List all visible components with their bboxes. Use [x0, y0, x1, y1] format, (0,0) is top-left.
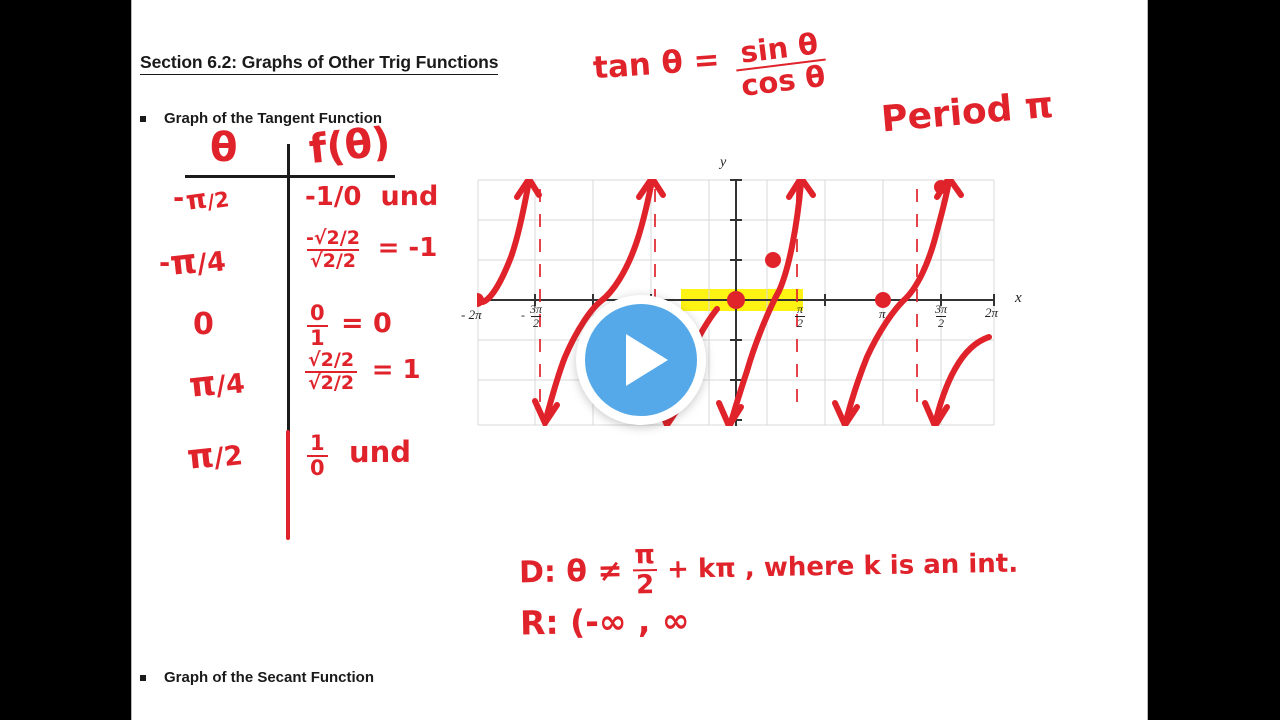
value-result: = -1	[378, 233, 438, 263]
annotation-tan-lhs: tan θ =	[592, 41, 721, 86]
value-num: -√2/2	[303, 229, 363, 249]
value-lead: -	[305, 182, 316, 212]
value-fraction: 1 0	[307, 433, 328, 479]
slide-right-border	[1147, 0, 1148, 720]
table-header-f-theta: f(θ)	[307, 119, 393, 173]
value-note: und	[349, 435, 411, 469]
value-num: 0	[307, 303, 328, 325]
value-fraction: -√2/2 √2/2	[303, 229, 363, 271]
theta-den: 2	[213, 189, 230, 212]
xtick-label-3pi-2: 3π2	[933, 303, 949, 329]
xtick-label-neg-3pi-2: - 3π2	[521, 303, 544, 329]
xtick-label-pi-2: π2	[795, 303, 805, 329]
value-num: √2/2	[305, 351, 357, 371]
theta-sign: -	[173, 183, 184, 214]
page-title: Section 6.2: Graphs of Other Trig Functi…	[140, 52, 498, 75]
theta-den: 2	[222, 440, 244, 473]
annotation-domain-suffix: + kπ , where k is an int.	[667, 549, 1018, 585]
bullet-secant-label: Graph of the Secant Function	[164, 669, 374, 686]
value-den: 0	[343, 182, 361, 212]
annotation-domain-den: 2	[633, 569, 658, 598]
value-result: = 1	[372, 355, 421, 385]
theta-num: π	[187, 363, 218, 405]
value-den: √2/2	[305, 371, 357, 393]
table-cell-theta: π / 4	[189, 363, 244, 402]
table-cell-value: -√2/2 √2/2 = -1	[301, 229, 437, 271]
value-num: 1	[316, 182, 334, 212]
annotation-range: R: (-∞ , ∞	[520, 601, 690, 643]
theta-den: 4	[224, 368, 246, 401]
table-cell-theta: π / 2	[187, 435, 242, 474]
theta-num: π	[185, 435, 216, 477]
values-table: θ f(θ) - π / 2 - 1/0 und	[153, 125, 453, 535]
theta-num: π	[168, 241, 199, 283]
annotation-domain-prefix: D: θ ≠	[519, 553, 623, 590]
value-den: 1	[307, 325, 328, 349]
annotation-tan-fraction: sin θ cos θ	[733, 29, 830, 102]
slide-left-border	[131, 0, 132, 720]
table-cell-theta: - π / 2	[173, 183, 231, 214]
bullet-secant-function: Graph of the Secant Function	[140, 669, 374, 686]
play-triangle-icon	[626, 334, 668, 386]
table-cell-theta: - π / 4	[159, 241, 226, 280]
xtick-label-neg-2pi: - 2π	[461, 307, 482, 323]
table-cell-theta: 0	[193, 307, 214, 342]
value-fraction: √2/2 √2/2	[305, 351, 357, 393]
theta-fraction: π / 2	[185, 183, 231, 215]
value-result: = 0	[341, 308, 392, 339]
table-cell-value: 1 0 und	[305, 433, 411, 479]
table-cell-value: - 1/0 und	[305, 181, 438, 212]
table-header-theta: θ	[210, 125, 237, 171]
table-cell-value: 0 1 = 0	[305, 303, 392, 349]
axis-tick-labels: y x - 2π - 3π2 π2 π 3π2 2π	[477, 179, 995, 426]
xtick-label-pi: π	[879, 306, 886, 322]
annotation-domain-fraction: π 2	[631, 542, 659, 598]
play-button[interactable]	[576, 295, 706, 425]
xtick-label-x: x	[1015, 290, 1022, 307]
xtick-label-2pi: 2π	[985, 305, 998, 321]
ytick-label-y: y	[720, 155, 726, 171]
annotation-period: Period π	[880, 85, 1055, 141]
value-num: 1	[307, 433, 328, 455]
table-vertical-divider-ink	[286, 430, 290, 540]
bullet-square-icon	[140, 675, 146, 681]
theta-den: 4	[206, 246, 228, 279]
value-den: √2/2	[307, 249, 359, 271]
value-fraction: 0 1	[307, 303, 328, 349]
table-horizontal-divider	[185, 175, 395, 178]
value-note: und	[381, 181, 439, 212]
bullet-square-icon	[140, 116, 146, 122]
table-cell-value: √2/2 √2/2 = 1	[303, 351, 421, 393]
annotation-tan-identity: tan θ = sin θ cos θ	[593, 34, 829, 96]
value-den: 0	[307, 455, 328, 479]
annotation-domain-num: π	[631, 542, 658, 569]
video-player-stage: Section 6.2: Graphs of Other Trig Functi…	[0, 0, 1280, 720]
tangent-graph: y x - 2π - 3π2 π2 π 3π2 2π	[477, 179, 995, 426]
annotation-domain: D: θ ≠ π 2 + kπ , where k is an int.	[519, 536, 1019, 601]
